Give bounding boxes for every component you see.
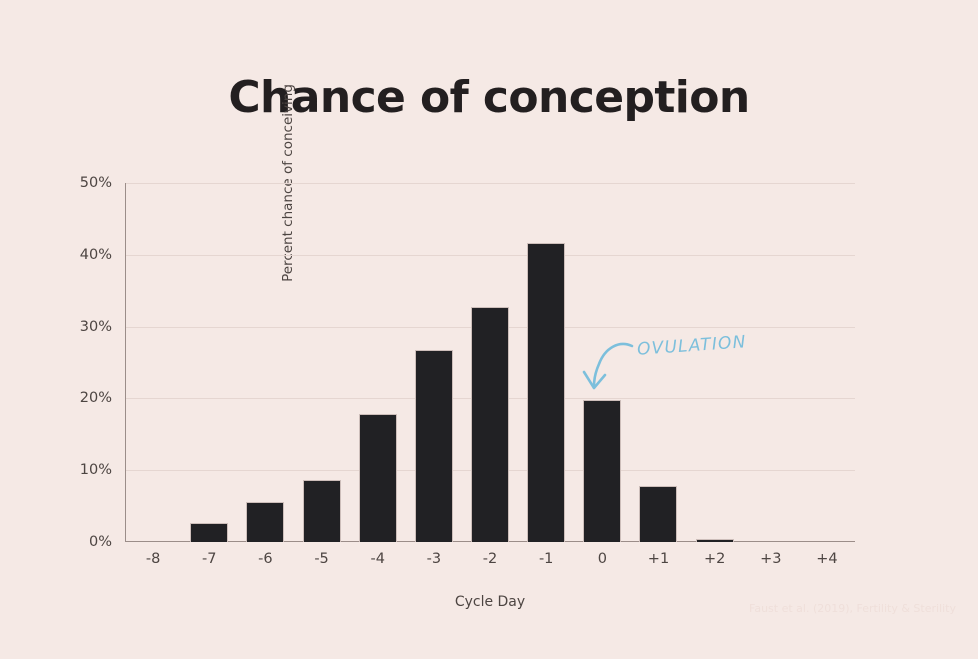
bar-slot bbox=[237, 183, 293, 542]
bar-slot bbox=[406, 183, 462, 542]
x-axis-tick-label: -5 bbox=[293, 551, 349, 567]
x-axis-tick-label: -2 bbox=[462, 551, 518, 567]
x-axis-tick-label: -6 bbox=[237, 551, 293, 567]
x-axis-tick-label: +1 bbox=[630, 551, 686, 567]
bar bbox=[639, 486, 677, 542]
y-axis-ticks: 0%10%20%30%40%50% bbox=[50, 183, 112, 542]
bar bbox=[471, 307, 509, 542]
x-axis-tick-label: 0 bbox=[574, 551, 630, 567]
x-axis-tick-label: +2 bbox=[687, 551, 743, 567]
bar bbox=[246, 502, 284, 542]
bar-slot bbox=[743, 183, 799, 542]
bar bbox=[415, 350, 453, 542]
bar-slot bbox=[350, 183, 406, 542]
x-axis-label: Cycle Day bbox=[125, 594, 855, 610]
bar-slot bbox=[574, 183, 630, 542]
bar-slot bbox=[462, 183, 518, 542]
bar-series bbox=[125, 183, 855, 542]
bar bbox=[696, 539, 734, 542]
y-axis-tick-label: 50% bbox=[52, 175, 112, 191]
x-axis-tick-label: -8 bbox=[125, 551, 181, 567]
bar bbox=[303, 480, 341, 542]
y-axis-tick-label: 30% bbox=[52, 319, 112, 335]
y-axis-tick-label: 10% bbox=[52, 462, 112, 478]
bar-slot bbox=[125, 183, 181, 542]
x-axis-tick-label: -4 bbox=[350, 551, 406, 567]
bar bbox=[359, 414, 397, 542]
x-axis-tick-label: +3 bbox=[743, 551, 799, 567]
bar-slot bbox=[293, 183, 349, 542]
bar-slot bbox=[518, 183, 574, 542]
chart-card: Chance of conception Percent chance of c… bbox=[0, 0, 978, 659]
x-axis-tick-label: -7 bbox=[181, 551, 237, 567]
bar-slot bbox=[687, 183, 743, 542]
bar-slot bbox=[799, 183, 855, 542]
x-axis-tick-label: -1 bbox=[518, 551, 574, 567]
x-axis-ticks: -8-7-6-5-4-3-2-10+1+2+3+4 bbox=[125, 551, 855, 567]
bar-slot bbox=[630, 183, 686, 542]
bar bbox=[527, 243, 565, 542]
bar bbox=[583, 400, 621, 542]
plot-area bbox=[125, 183, 855, 542]
x-axis-tick-label: +4 bbox=[799, 551, 855, 567]
x-axis-tick-label: -3 bbox=[406, 551, 462, 567]
y-axis-tick-label: 0% bbox=[52, 534, 112, 550]
chart-title: Chance of conception bbox=[0, 72, 978, 123]
y-axis-tick-label: 20% bbox=[52, 390, 112, 406]
bar-slot bbox=[181, 183, 237, 542]
y-axis-tick-label: 40% bbox=[52, 247, 112, 263]
bar bbox=[190, 523, 228, 542]
citation-text: Faust et al. (2019), Fertility & Sterili… bbox=[749, 602, 956, 615]
